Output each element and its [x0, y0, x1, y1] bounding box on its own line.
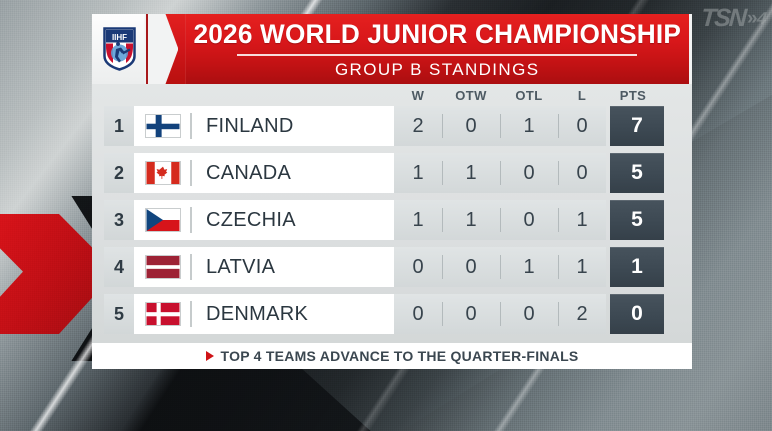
flag-cell [134, 153, 192, 193]
header-chevron-accent [146, 14, 186, 84]
stat-otl: 0 [500, 294, 558, 334]
page-title: 2026 WORLD JUNIOR CHAMPIONSHIP [193, 21, 681, 48]
table-row[interactable]: 4 LATVIA 0 0 1 1 1 [104, 247, 680, 287]
stat-l: 2 [558, 294, 606, 334]
stat-pts: 7 [610, 106, 664, 146]
table-row[interactable]: 5 DENMARK 0 0 0 2 0 [104, 294, 680, 334]
stat-l: 1 [558, 247, 606, 287]
table-row[interactable]: 3 CZECHIA 1 1 0 1 5 [104, 200, 680, 240]
stat-otw: 0 [442, 247, 500, 287]
panel-footer: TOP 4 TEAMS ADVANCE TO THE QUARTER-FINAL… [92, 343, 692, 369]
stat-w: 0 [394, 247, 442, 287]
team-name-cell: CZECHIA [192, 200, 394, 240]
title-divider [237, 54, 637, 56]
footer-note: TOP 4 TEAMS ADVANCE TO THE QUARTER-FINAL… [221, 348, 579, 364]
column-header-pts: PTS [606, 88, 660, 103]
stat-otl: 0 [500, 153, 558, 193]
stat-w: 1 [394, 153, 442, 193]
stat-w: 2 [394, 106, 442, 146]
table-column-headers: W OTW OTL L PTS [104, 84, 680, 106]
rank-cell: 5 [104, 294, 134, 334]
tsn-chevron-icon: » [747, 8, 753, 30]
column-header-l: L [558, 88, 606, 103]
stat-otw: 0 [442, 294, 500, 334]
czechia-flag-icon [145, 208, 181, 232]
stat-pts: 0 [610, 294, 664, 334]
panel-header: IIHF 2026 WORLD JUNIOR CHAMPIONSHIP GROU… [92, 14, 692, 84]
column-header-otw: OTW [442, 88, 500, 103]
finland-flag-icon [145, 114, 181, 138]
broadcast-graphic-screen: TSN » 4 IIHF [0, 0, 772, 431]
latvia-flag-icon [145, 255, 181, 279]
stat-otw: 1 [442, 153, 500, 193]
column-header-otl: OTL [500, 88, 558, 103]
stat-w: 1 [394, 200, 442, 240]
red-triangle-icon [206, 351, 214, 361]
flag-cell [134, 200, 192, 240]
header-right-padding [689, 14, 693, 84]
standings-table: W OTW OTL L PTS 1 FINLAND 2 0 [92, 84, 692, 343]
canada-flag-icon [145, 161, 181, 185]
stat-otw: 1 [442, 200, 500, 240]
stat-otw: 0 [442, 106, 500, 146]
rank-cell: 3 [104, 200, 134, 240]
flag-cell [134, 106, 192, 146]
tsn-channel-bug: TSN » 4 [701, 4, 766, 33]
page-subtitle: GROUP B STANDINGS [335, 61, 540, 78]
tsn-channel-number: 4 [755, 9, 767, 29]
rank-cell: 4 [104, 247, 134, 287]
table-row[interactable]: 2 CANADA 1 1 0 0 5 [104, 153, 680, 193]
team-name-cell: FINLAND [192, 106, 394, 146]
tsn-wordmark: TSN [700, 4, 746, 33]
column-header-w: W [394, 88, 442, 103]
iihf-logo-container: IIHF [92, 14, 146, 84]
stat-otl: 1 [500, 106, 558, 146]
team-name-cell: LATVIA [192, 247, 394, 287]
table-row[interactable]: 1 FINLAND 2 0 1 0 7 [104, 106, 680, 146]
denmark-flag-icon [145, 302, 181, 326]
stat-pts: 5 [610, 153, 664, 193]
stat-w: 0 [394, 294, 442, 334]
stat-otl: 1 [500, 247, 558, 287]
stat-l: 1 [558, 200, 606, 240]
stat-pts: 5 [610, 200, 664, 240]
team-name-cell: CANADA [192, 153, 394, 193]
svg-text:IIHF: IIHF [112, 33, 127, 42]
rank-cell: 2 [104, 153, 134, 193]
stat-l: 0 [558, 106, 606, 146]
flag-cell [134, 294, 192, 334]
standings-panel: IIHF 2026 WORLD JUNIOR CHAMPIONSHIP GROU… [92, 14, 692, 369]
team-name-cell: DENMARK [192, 294, 394, 334]
stat-l: 0 [558, 153, 606, 193]
stat-pts: 1 [610, 247, 664, 287]
rank-cell: 1 [104, 106, 134, 146]
flag-cell [134, 247, 192, 287]
header-title-block: 2026 WORLD JUNIOR CHAMPIONSHIP GROUP B S… [186, 14, 689, 84]
iihf-logo-icon: IIHF [103, 27, 136, 71]
stat-otl: 0 [500, 200, 558, 240]
